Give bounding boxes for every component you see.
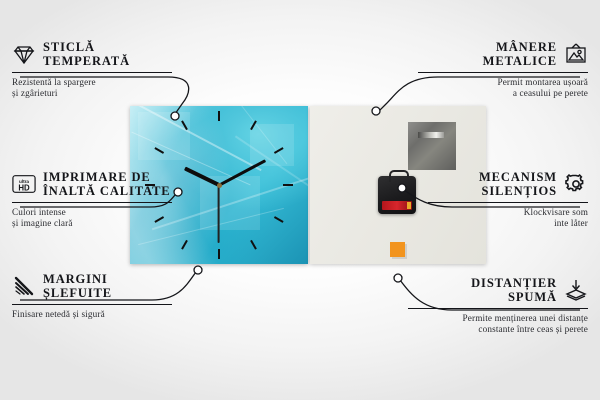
svg-text:HD: HD — [18, 183, 30, 192]
clock-center-hub — [217, 183, 222, 188]
feature-header: STICLĂ TEMPERATĂ — [12, 40, 172, 68]
feature-title: IMPRIMARE DE ÎNALTĂ CALITATE — [43, 170, 171, 198]
feature-desc-line2: inte låter — [428, 218, 588, 229]
feature-tempered-glass: STICLĂ TEMPERATĂ Rezistentă la spargere … — [12, 40, 172, 99]
second-hand — [218, 185, 220, 243]
feature-title: DISTANȚIER SPUMĂ — [471, 276, 557, 304]
feature-title: MECANISM SILENȚIOS — [479, 170, 557, 198]
feature-desc-line2: a ceasului pe perete — [418, 88, 588, 99]
hour-marker — [218, 111, 220, 121]
mechanism-hanger-loop — [389, 170, 409, 182]
feature-header: MARGINI ȘLEFUITE — [12, 272, 172, 300]
hanger-slot — [418, 132, 444, 138]
hour-marker — [154, 147, 164, 154]
minute-hand — [218, 159, 265, 186]
feature-desc-line1: Klockvisare som — [428, 207, 588, 218]
hour-marker — [181, 120, 188, 130]
ultra-hd-icon: ultra HD — [12, 173, 36, 195]
feature-desc-line1: Culori intense — [12, 207, 172, 218]
divider — [12, 202, 172, 203]
feature-header: MÂNERE METALICE — [418, 40, 588, 68]
feature-header: ultra HD IMPRIMARE DE ÎNALTĂ CALITATE — [12, 170, 172, 198]
feature-desc-line1: Permit montarea ușoară — [418, 77, 588, 88]
clock-mechanism — [378, 176, 416, 214]
picture-frame-icon — [564, 43, 588, 65]
feature-title: MARGINI ȘLEFUITE — [43, 272, 112, 300]
leader-dot-foam — [394, 274, 402, 282]
hour-marker — [250, 240, 257, 250]
feature-title: MÂNERE METALICE — [483, 40, 557, 68]
feature-header: DISTANȚIER SPUMĂ — [408, 276, 588, 304]
feature-foam-spacer: DISTANȚIER SPUMĂ Permite menținerea unei… — [408, 276, 588, 335]
metal-hanger-plate — [408, 122, 456, 170]
hour-marker — [283, 184, 293, 186]
divider — [12, 304, 172, 305]
divider — [428, 202, 588, 203]
diagonal-lines-icon — [12, 275, 36, 297]
infographic-canvas: STICLĂ TEMPERATĂ Rezistentă la spargere … — [0, 0, 600, 400]
foam-spacer-pad — [390, 242, 405, 257]
feature-desc-line2: și imagine clară — [12, 218, 172, 229]
down-arrow-pad-icon — [564, 279, 588, 301]
feature-metal-hooks: MÂNERE METALICE Permit montarea ușoară a… — [418, 40, 588, 99]
feature-desc-line1: Rezistentă la spargere — [12, 77, 172, 88]
feature-high-quality-print: ultra HD IMPRIMARE DE ÎNALTĂ CALITATE Cu… — [12, 170, 172, 229]
battery-terminal — [407, 202, 411, 209]
feature-desc-line2: și zgârieturi — [12, 88, 172, 99]
gear-icon — [564, 173, 588, 195]
hour-marker — [181, 240, 188, 250]
divider — [418, 72, 588, 73]
hour-marker — [274, 147, 284, 154]
hour-marker — [250, 120, 257, 130]
divider — [12, 72, 172, 73]
diamond-icon — [12, 43, 36, 65]
hour-marker — [274, 216, 284, 223]
leader-dot-edges — [194, 266, 202, 274]
hour-marker — [218, 249, 220, 259]
feature-header: MECANISM SILENȚIOS — [428, 170, 588, 198]
feature-desc-line2: constante între ceas și perete — [408, 324, 588, 335]
feature-desc-line1: Permite menținerea unei distanțe — [408, 313, 588, 324]
feature-title: STICLĂ TEMPERATĂ — [43, 40, 130, 68]
divider — [408, 308, 588, 309]
battery — [382, 201, 412, 210]
hour-hand — [184, 167, 220, 187]
feature-silent-mechanism: MECANISM SILENȚIOS Klockvisare som inte … — [428, 170, 588, 229]
feature-desc-line1: Finisare netedă și sigură — [12, 309, 172, 320]
feature-polished-edges: MARGINI ȘLEFUITE Finisare netedă și sigu… — [12, 272, 172, 320]
